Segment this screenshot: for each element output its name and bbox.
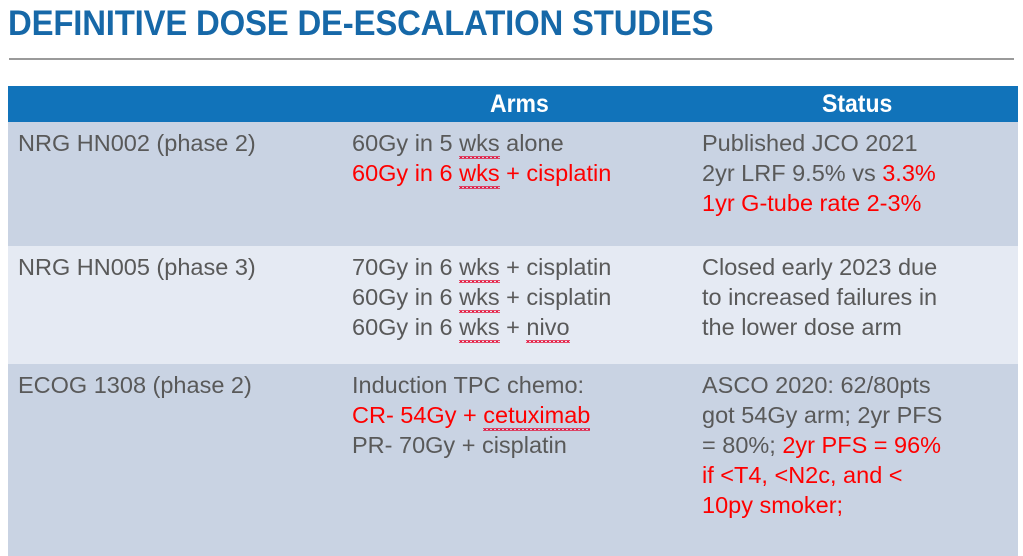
cell-line: 60Gy in 5 wks alone xyxy=(352,128,684,158)
spellcheck-underlined-text: wks xyxy=(459,252,499,282)
cell-status: Published JCO 20212yr LRF 9.5% vs 3.3%1y… xyxy=(692,122,1018,246)
cell-arms: Induction TPC chemo:CR- 54Gy + cetuximab… xyxy=(342,364,692,556)
cell-text: + xyxy=(500,314,527,340)
table-header-row: Arms Status xyxy=(8,86,1018,122)
cell-status: ASCO 2020: 62/80ptsgot 54Gy arm; 2yr PFS… xyxy=(692,364,1018,556)
cell-study-name: NRG HN002 (phase 2) xyxy=(8,122,342,246)
cell-text: 60Gy in 6 xyxy=(352,314,459,340)
cell-line: Closed early 2023 due xyxy=(702,252,1010,282)
cell-text: Closed early 2023 due xyxy=(702,254,937,280)
study-label: NRG HN002 (phase 2) xyxy=(18,128,334,158)
column-header-arms: Arms xyxy=(342,86,692,122)
spellcheck-underlined-text: wks xyxy=(459,158,499,188)
dose-deescalation-table: Arms Status NRG HN002 (phase 2)60Gy in 5… xyxy=(8,86,1018,556)
cell-line: got 54Gy arm; 2yr PFS xyxy=(702,400,1010,430)
cell-line: 2yr LRF 9.5% vs 3.3% xyxy=(702,158,1010,188)
column-header-study xyxy=(8,86,342,122)
cell-line: 1yr G-tube rate 2-3% xyxy=(702,188,1010,218)
cell-text: Published JCO 2021 xyxy=(702,130,918,156)
cell-line: if <T4, <N2c, and < xyxy=(702,460,1010,490)
cell-study-name: NRG HN005 (phase 3) xyxy=(8,246,342,364)
cell-text: CR- 54Gy + xyxy=(352,402,483,428)
cell-text: if <T4, <N2c, and < xyxy=(702,462,903,488)
cell-text: to increased failures in xyxy=(702,284,937,310)
cell-line: Induction TPC chemo: xyxy=(352,370,684,400)
cell-text: alone xyxy=(500,130,564,156)
spellcheck-underlined-text: wks xyxy=(459,282,499,312)
cell-arms: 70Gy in 6 wks + cisplatin60Gy in 6 wks +… xyxy=(342,246,692,364)
spellcheck-underlined-text: cetuximab xyxy=(483,400,590,430)
cell-text: + cisplatin xyxy=(500,160,612,186)
cell-text: PR- 70Gy + cisplatin xyxy=(352,432,567,458)
cell-line: Published JCO 2021 xyxy=(702,128,1010,158)
cell-line: to increased failures in xyxy=(702,282,1010,312)
cell-line: 70Gy in 6 wks + cisplatin xyxy=(352,252,684,282)
cell-line: = 80%; 2yr PFS = 96% xyxy=(702,430,1010,460)
cell-study-name: ECOG 1308 (phase 2) xyxy=(8,364,342,556)
cell-text: 60Gy in 6 xyxy=(352,284,459,310)
cell-text: 60Gy in 6 xyxy=(352,160,459,186)
cell-line: 60Gy in 6 wks + cisplatin xyxy=(352,282,684,312)
cell-text: 60Gy in 5 xyxy=(352,130,459,156)
spellcheck-underlined-text: wks xyxy=(459,312,499,342)
cell-text: 3.3% xyxy=(882,160,936,186)
column-header-status: Status xyxy=(692,86,1018,122)
cell-status: Closed early 2023 dueto increased failur… xyxy=(692,246,1018,364)
cell-text: ASCO 2020: 62/80pts xyxy=(702,372,931,398)
cell-line: 60Gy in 6 wks + nivo xyxy=(352,312,684,342)
study-label: NRG HN005 (phase 3) xyxy=(18,252,334,282)
table-row: ECOG 1308 (phase 2)Induction TPC chemo:C… xyxy=(8,364,1018,556)
cell-text: = 80%; xyxy=(702,432,782,458)
cell-line: 60Gy in 6 wks + cisplatin xyxy=(352,158,684,188)
spellcheck-underlined-text: nivo xyxy=(526,312,569,342)
page-title: DEFINITIVE DOSE DE-ESCALATION STUDIES xyxy=(8,2,955,50)
cell-line: CR- 54Gy + cetuximab xyxy=(352,400,684,430)
title-divider xyxy=(9,58,1014,60)
cell-text: 2yr PFS = 96% xyxy=(782,432,941,458)
cell-line: the lower dose arm xyxy=(702,312,1010,342)
cell-line: ASCO 2020: 62/80pts xyxy=(702,370,1010,400)
cell-text: Induction TPC chemo: xyxy=(352,372,584,398)
table-body: NRG HN002 (phase 2)60Gy in 5 wks alone60… xyxy=(8,122,1018,556)
study-label: ECOG 1308 (phase 2) xyxy=(18,370,334,400)
cell-line: 10py smoker; xyxy=(702,490,1010,520)
cell-text: 70Gy in 6 xyxy=(352,254,459,280)
cell-text: 2yr LRF 9.5% vs xyxy=(702,160,882,186)
table-row: NRG HN005 (phase 3)70Gy in 6 wks + cispl… xyxy=(8,246,1018,364)
cell-text: 1yr G-tube rate 2-3% xyxy=(702,190,921,216)
cell-line: PR- 70Gy + cisplatin xyxy=(352,430,684,460)
cell-arms: 60Gy in 5 wks alone60Gy in 6 wks + cispl… xyxy=(342,122,692,246)
cell-text: + cisplatin xyxy=(500,254,612,280)
cell-text: the lower dose arm xyxy=(702,314,902,340)
cell-text: + cisplatin xyxy=(500,284,612,310)
spellcheck-underlined-text: wks xyxy=(459,128,499,158)
cell-text: got 54Gy arm; 2yr PFS xyxy=(702,402,942,428)
cell-text: 10py smoker; xyxy=(702,492,843,518)
table-row: NRG HN002 (phase 2)60Gy in 5 wks alone60… xyxy=(8,122,1018,246)
